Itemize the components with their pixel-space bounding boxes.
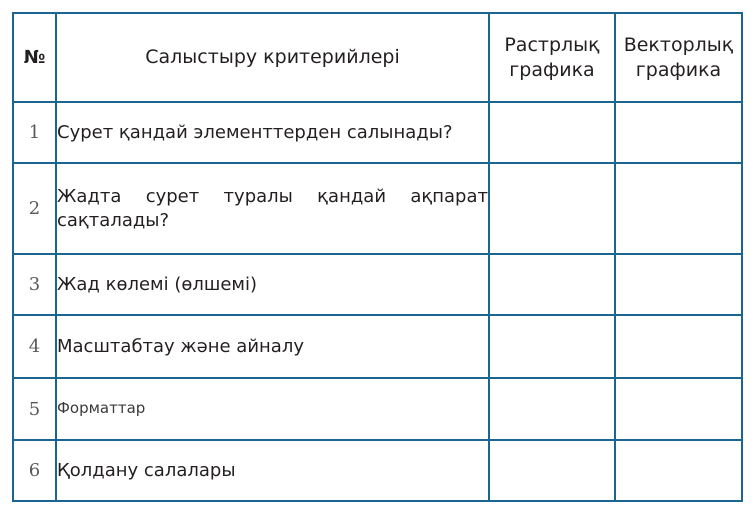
row-answer-vector[interactable] bbox=[615, 440, 742, 501]
row-number: 1 bbox=[13, 102, 56, 163]
row-answer-raster[interactable] bbox=[489, 315, 615, 378]
comparison-table: № Салыстыру критерийлері Растрлық график… bbox=[12, 12, 743, 502]
row-number: 2 bbox=[13, 163, 56, 254]
table-row: 3 Жад көлемі (өлшемі) bbox=[13, 254, 742, 315]
row-number: 3 bbox=[13, 254, 56, 315]
row-answer-vector[interactable] bbox=[615, 254, 742, 315]
row-answer-raster[interactable] bbox=[489, 254, 615, 315]
table-row: 6 Қолдану салалары bbox=[13, 440, 742, 501]
row-answer-raster[interactable] bbox=[489, 440, 615, 501]
row-answer-raster[interactable] bbox=[489, 378, 615, 440]
column-header-raster-graphics: Растрлық графика bbox=[489, 13, 615, 102]
row-answer-vector[interactable] bbox=[615, 378, 742, 440]
row-answer-raster[interactable] bbox=[489, 163, 615, 254]
row-number: 4 bbox=[13, 315, 56, 378]
column-header-vector-graphics: Векторлық графика bbox=[615, 13, 742, 102]
row-criterion: Масштабтау және айналу bbox=[56, 315, 489, 378]
column-header-raster-line2: графика bbox=[509, 59, 594, 81]
table-row: 5 Форматтар bbox=[13, 378, 742, 440]
column-header-raster-line1: Растрлық bbox=[504, 34, 599, 56]
row-criterion: Қолдану салалары bbox=[56, 440, 489, 501]
header-row: № Салыстыру критерийлері Растрлық график… bbox=[13, 13, 742, 102]
row-answer-raster[interactable] bbox=[489, 102, 615, 163]
row-answer-vector[interactable] bbox=[615, 102, 742, 163]
column-header-vector-line2: графика bbox=[636, 59, 721, 81]
table-row: 4 Масштабтау және айналу bbox=[13, 315, 742, 378]
comparison-table-container: № Салыстыру критерийлері Растрлық график… bbox=[12, 12, 741, 486]
table-row: 2 Жадта сурет туралы қандай ақпарат сақт… bbox=[13, 163, 742, 254]
table-header: № Салыстыру критерийлері Растрлық график… bbox=[13, 13, 742, 102]
row-criterion-text: Жад көлемі (өлшемі) bbox=[57, 273, 488, 296]
table-body: 1 Сурет қандай элементтерден салынады? 2… bbox=[13, 102, 742, 501]
column-header-criteria: Салыстыру критерийлері bbox=[56, 13, 489, 102]
row-criterion-text: Масштабтау және айналу bbox=[57, 335, 488, 358]
column-header-number: № bbox=[13, 13, 56, 102]
row-criterion: Форматтар bbox=[56, 378, 489, 440]
page-root: № Салыстыру критерийлері Растрлық график… bbox=[0, 0, 754, 507]
table-row: 1 Сурет қандай элементтерден салынады? bbox=[13, 102, 742, 163]
row-criterion-text: Сурет қандай элементтерден салынады? bbox=[57, 121, 488, 144]
row-number: 6 bbox=[13, 440, 56, 501]
row-criterion: Жад көлемі (өлшемі) bbox=[56, 254, 489, 315]
row-criterion-text: Форматтар bbox=[57, 399, 488, 419]
row-number: 5 bbox=[13, 378, 56, 440]
row-criterion: Жадта сурет туралы қандай ақпарат сақтал… bbox=[56, 163, 489, 254]
row-criterion: Сурет қандай элементтерден салынады? bbox=[56, 102, 489, 163]
column-header-vector-line1: Векторлық bbox=[624, 34, 734, 56]
row-answer-vector[interactable] bbox=[615, 163, 742, 254]
row-criterion-text: Қолдану салалары bbox=[57, 459, 488, 482]
row-answer-vector[interactable] bbox=[615, 315, 742, 378]
row-criterion-text: Жадта сурет туралы қандай ақпарат сақтал… bbox=[57, 185, 488, 232]
